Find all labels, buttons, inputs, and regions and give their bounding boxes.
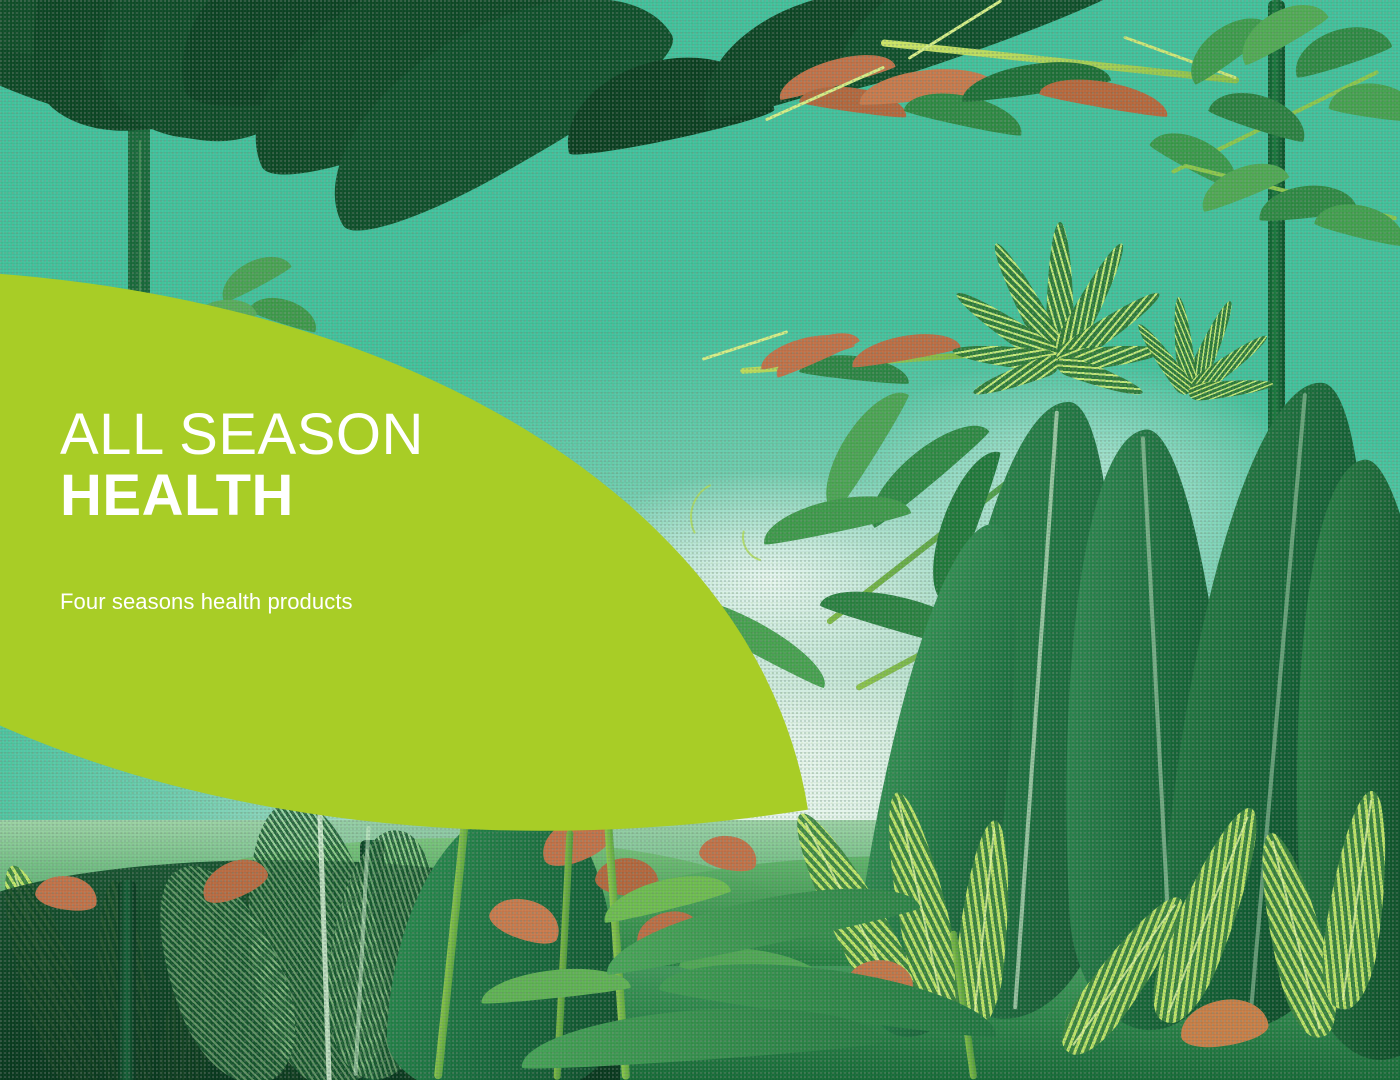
headline-line-2: HEALTH [60, 465, 700, 526]
headline-block: ALL SEASON HEALTH Four seasons health pr… [60, 404, 700, 615]
subtitle: Four seasons health products [60, 589, 700, 615]
headline-line-1: ALL SEASON [60, 404, 700, 465]
poster-canvas: ALL SEASON HEALTH Four seasons health pr… [0, 0, 1400, 1080]
tall-stem [1268, 0, 1285, 470]
trunk [118, 880, 136, 1080]
